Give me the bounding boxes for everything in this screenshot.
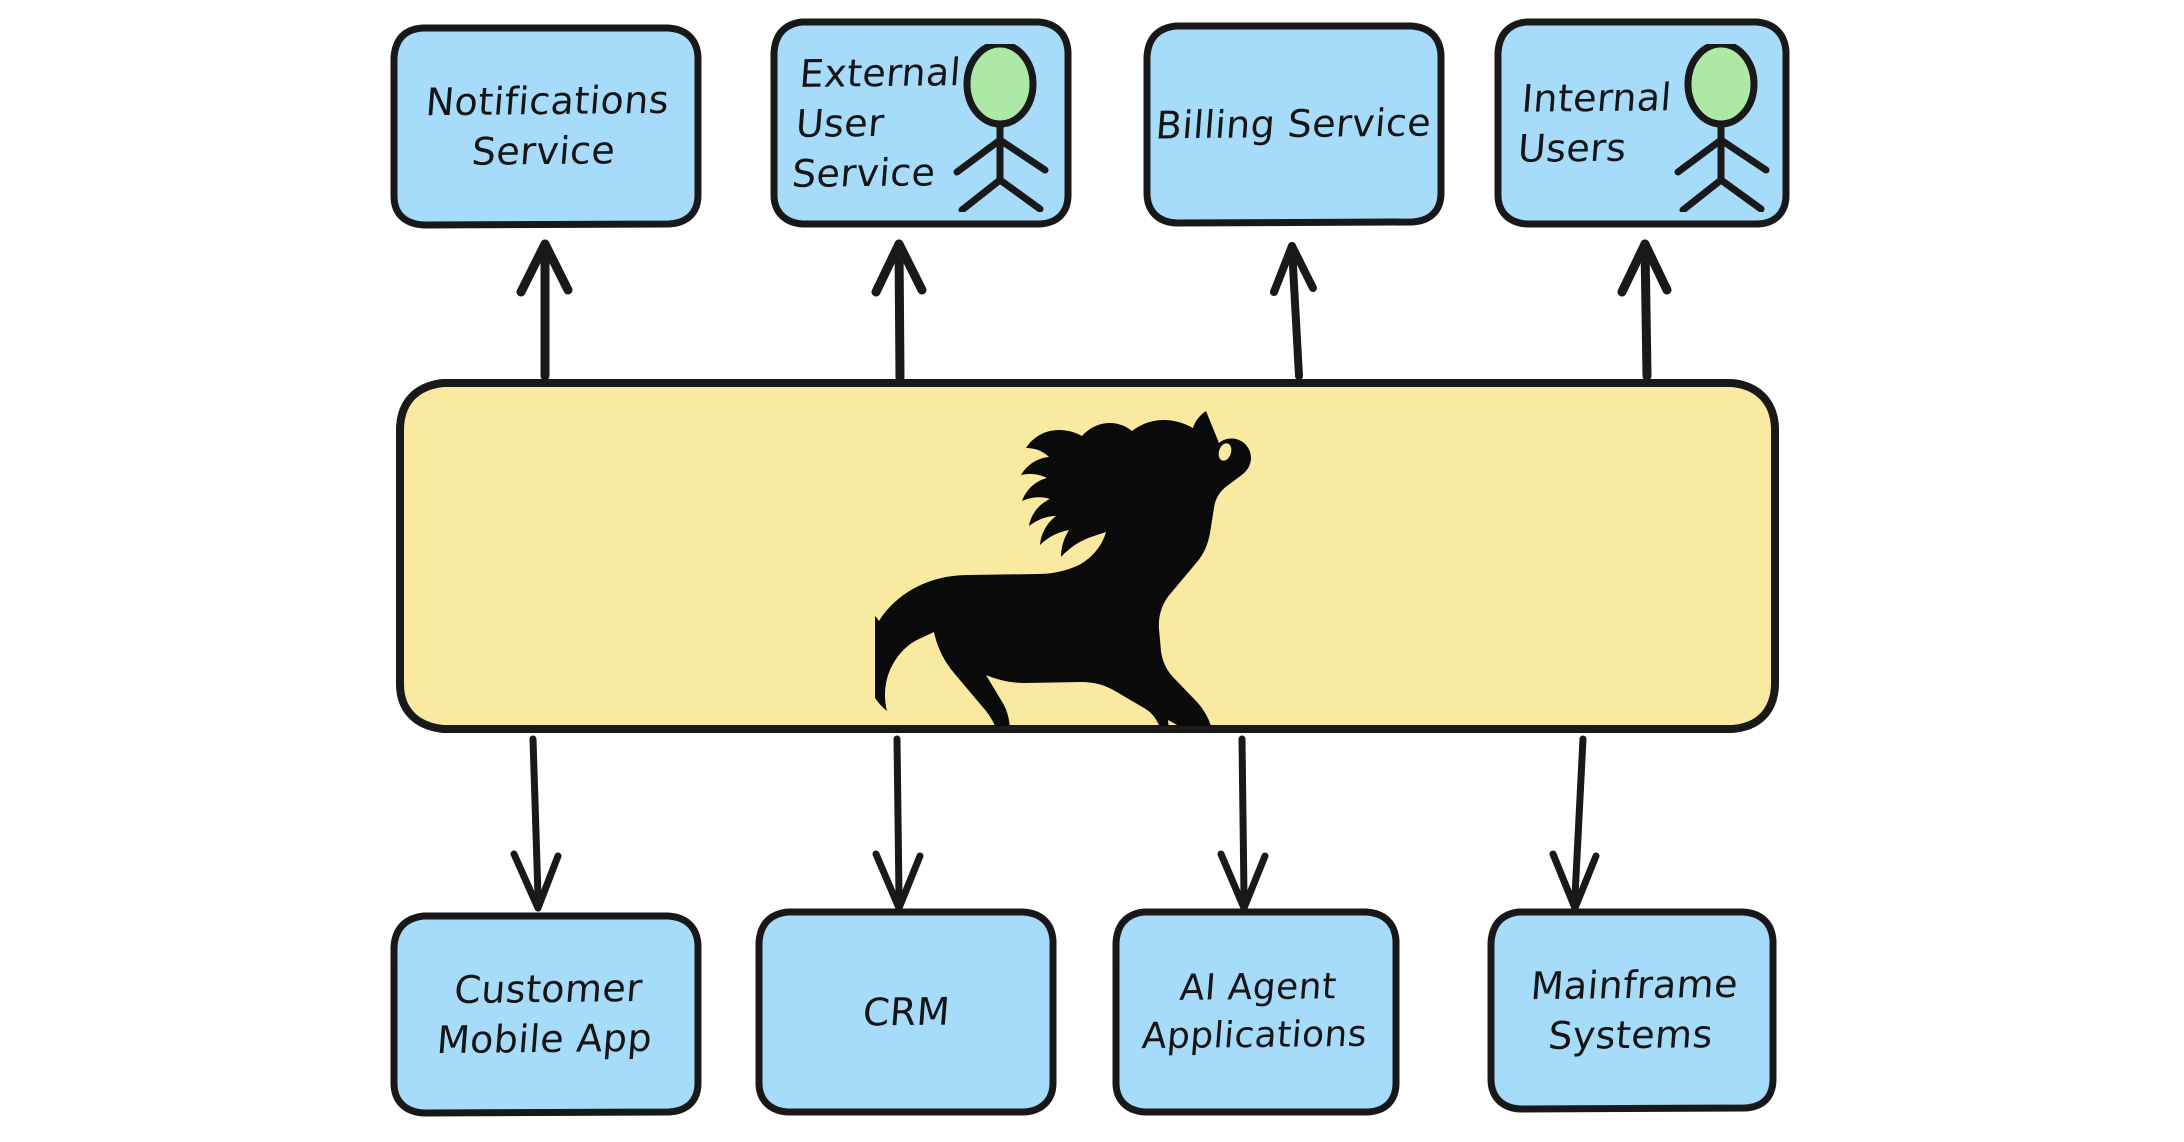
connector-down-mainframe-systems xyxy=(1530,736,1620,916)
node-label: Internal Users xyxy=(1516,72,1674,174)
node-label: External User Service xyxy=(790,47,963,199)
node-label: Customer Mobile App xyxy=(435,963,658,1066)
node-label: Billing Service xyxy=(1154,97,1433,150)
node-label: Notifications Service xyxy=(421,75,672,178)
node-label: CRM xyxy=(861,986,952,1037)
actor-figure-icon xyxy=(1666,44,1776,212)
connector-up-billing-service xyxy=(1255,238,1335,378)
node-label: Mainframe Systems xyxy=(1525,959,1740,1061)
node-ai-agent-applications[interactable]: AI Agent Applications xyxy=(1112,908,1400,1116)
connector-up-external-user-service xyxy=(860,238,940,380)
node-billing-service[interactable]: Billing Service xyxy=(1143,22,1445,226)
node-external-user-service[interactable]: External User Service xyxy=(770,18,1072,228)
node-mainframe-systems[interactable]: Mainframe Systems xyxy=(1487,908,1777,1112)
node-internal-users[interactable]: Internal Users xyxy=(1494,18,1790,228)
node-customer-mobile-app[interactable]: Customer Mobile App xyxy=(390,912,702,1116)
connector-down-crm xyxy=(855,736,945,916)
connector-down-ai-agent-applications xyxy=(1200,736,1290,916)
diagram-canvas: Notifications Service External User Serv… xyxy=(0,0,2184,1142)
connector-up-internal-users xyxy=(1605,238,1685,378)
connector-up-notifications xyxy=(505,238,585,378)
actor-figure-icon xyxy=(945,44,1055,212)
black-horse-logo-icon xyxy=(875,386,1275,726)
node-crm[interactable]: CRM xyxy=(755,908,1057,1116)
node-label: AI Agent Applications xyxy=(1140,963,1372,1060)
node-core-platform[interactable] xyxy=(395,378,1780,734)
connector-down-customer-mobile-app xyxy=(495,736,585,916)
node-notifications-service[interactable]: Notifications Service xyxy=(390,24,702,228)
